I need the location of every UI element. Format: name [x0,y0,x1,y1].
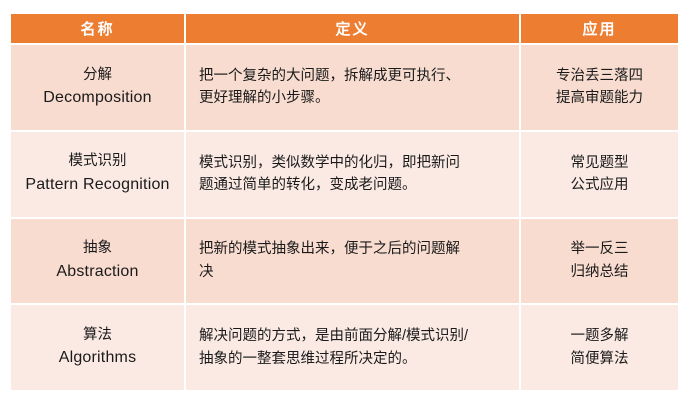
name-chinese: 抽象 [17,237,178,259]
name-chinese: 模式识别 [17,150,178,172]
cell-name: 抽象 Abstraction [11,219,184,304]
cell-name: 模式识别 Pattern Recognition [11,132,184,217]
cell-application: 举一反三 归纳总结 [521,219,678,304]
name-english: Algorithms [17,346,178,371]
name-english: Pattern Recognition [17,173,178,198]
application-line: 专治丢三落四 [527,65,672,87]
cell-application: 专治丢三落四 提高审题能力 [521,45,678,130]
definition-line: 题通过简单的转化，变成老问题。 [199,174,511,196]
application-line: 归纳总结 [527,261,672,283]
definition-line: 模式识别，类似数学中的化归，即把新问 [199,152,511,174]
table-row: 分解 Decomposition 把一个复杂的大问题，拆解成更可执行、 更好理解… [11,45,678,130]
definition-line: 把新的模式抽象出来，便于之后的问题解 [199,238,511,260]
column-header-name: 名称 [11,14,184,43]
application-line: 公式应用 [527,174,672,196]
computational-thinking-table-container: 名称 定义 应用 分解 Decomposition 把一个复杂的大问题，拆解成更… [9,12,676,392]
name-english: Decomposition [17,86,178,111]
application-line: 简便算法 [527,348,672,370]
table-row: 模式识别 Pattern Recognition 模式识别，类似数学中的化归，即… [11,132,678,217]
definition-line: 决 [199,261,511,283]
table-row: 抽象 Abstraction 把新的模式抽象出来，便于之后的问题解 决 举一反三… [11,219,678,304]
application-line: 常见题型 [527,152,672,174]
name-english: Abstraction [17,260,178,285]
cell-definition: 模式识别，类似数学中的化归，即把新问 题通过简单的转化，变成老问题。 [186,132,519,217]
cell-name: 算法 Algorithms [11,305,184,390]
table-row: 算法 Algorithms 解决问题的方式，是由前面分解/模式识别/ 抽象的一整… [11,305,678,390]
name-chinese: 分解 [17,64,178,86]
application-line: 提高审题能力 [527,87,672,109]
table-body: 分解 Decomposition 把一个复杂的大问题，拆解成更可执行、 更好理解… [11,45,678,390]
table-header-row: 名称 定义 应用 [11,14,678,43]
application-line: 一题多解 [527,325,672,347]
cell-definition: 解决问题的方式，是由前面分解/模式识别/ 抽象的一整套思维过程所决定的。 [186,305,519,390]
cell-definition: 把一个复杂的大问题，拆解成更可执行、 更好理解的小步骤。 [186,45,519,130]
application-line: 举一反三 [527,238,672,260]
cell-application: 常见题型 公式应用 [521,132,678,217]
column-header-definition: 定义 [186,14,519,43]
definition-line: 解决问题的方式，是由前面分解/模式识别/ [199,325,511,347]
cell-name: 分解 Decomposition [11,45,184,130]
column-header-application: 应用 [521,14,678,43]
definition-line: 把一个复杂的大问题，拆解成更可执行、 [199,65,511,87]
definition-line: 更好理解的小步骤。 [199,87,511,109]
cell-definition: 把新的模式抽象出来，便于之后的问题解 决 [186,219,519,304]
name-chinese: 算法 [17,324,178,346]
definition-line: 抽象的一整套思维过程所决定的。 [199,348,511,370]
cell-application: 一题多解 简便算法 [521,305,678,390]
computational-thinking-table: 名称 定义 应用 分解 Decomposition 把一个复杂的大问题，拆解成更… [9,12,680,392]
table-header: 名称 定义 应用 [11,14,678,43]
